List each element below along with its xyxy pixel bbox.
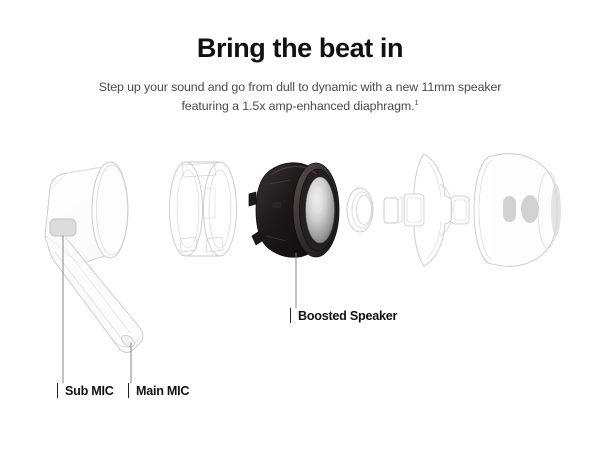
component-ear-tip — [474, 154, 561, 267]
ear-tip-detail-left — [503, 196, 516, 222]
page-title: Bring the beat in — [0, 0, 600, 64]
footnote-marker: 1 — [414, 98, 418, 107]
callout-divider — [57, 383, 58, 398]
callout-divider — [290, 308, 291, 323]
product-feature-panel: Bring the beat in Step up your sound and… — [0, 0, 600, 450]
callout-sub-mic-label: Sub MIC — [65, 384, 114, 398]
callout-main-mic: Main MIC — [128, 383, 189, 398]
page-subtitle: Step up your sound and go from dull to d… — [0, 64, 600, 116]
component-spacer-block — [384, 197, 402, 223]
callout-divider — [128, 383, 129, 398]
ear-tip-detail-right — [521, 195, 539, 223]
sub-mic-port — [50, 219, 76, 236]
component-acoustic-ring — [347, 188, 373, 232]
callout-boosted-speaker-label: Boosted Speaker — [298, 309, 397, 323]
component-retaining-ring — [170, 162, 237, 256]
subtitle-line-2: featuring a 1.5x amp-enhanced diaphragm. — [181, 99, 414, 113]
callout-sub-mic: Sub MIC — [57, 383, 114, 398]
component-boosted-speaker — [249, 163, 339, 258]
callout-main-mic-label: Main MIC — [136, 384, 189, 398]
callout-boosted-speaker: Boosted Speaker — [290, 308, 397, 323]
component-earbud-housing — [45, 162, 143, 352]
subtitle-line-1: Step up your sound and go from dull to d… — [99, 80, 502, 94]
component-wing-bracket — [404, 154, 469, 266]
header: Bring the beat in Step up your sound and… — [0, 0, 600, 116]
exploded-view-diagram — [0, 140, 600, 420]
